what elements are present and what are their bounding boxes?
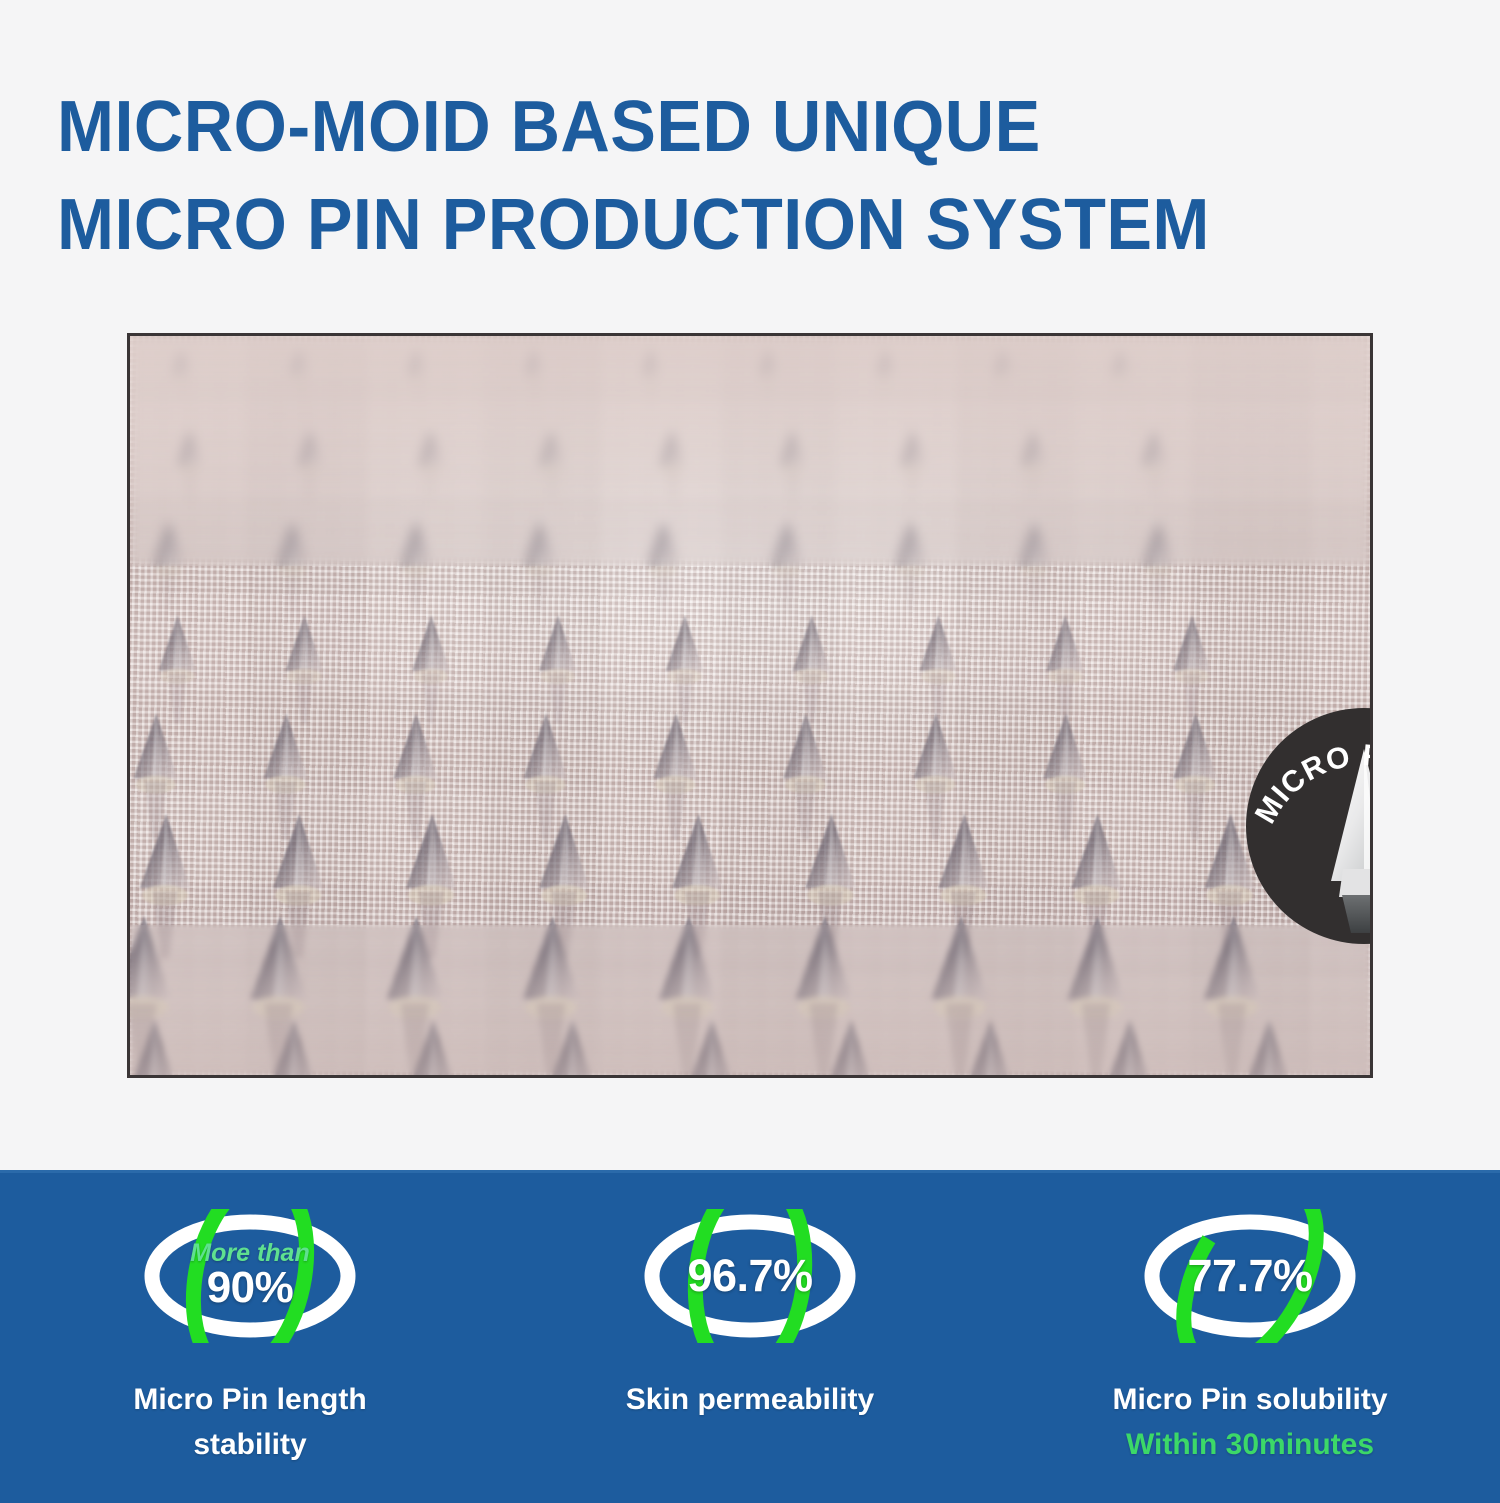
gauge-1-ring <box>136 1209 364 1343</box>
stats-band: More than 90% Micro Pin length stability… <box>0 1170 1500 1503</box>
gauge-1: More than 90% <box>136 1209 364 1343</box>
gauge-2-ring <box>636 1209 864 1343</box>
headline-line-1: MICRO-MOID BASED UNIQUE <box>57 78 1349 176</box>
stat-1-labels: Micro Pin length stability <box>133 1377 366 1467</box>
gauge-3-ring <box>1136 1209 1364 1343</box>
micro-pin-photo: MICRO PIN 200EA <box>127 333 1373 1078</box>
stat-1-label-line-2: stability <box>133 1422 366 1467</box>
photo-depth-blur-bottom <box>130 925 1370 1075</box>
gauge-2-track <box>652 1222 848 1330</box>
stat-2-label-line-1: Skin permeability <box>626 1377 874 1422</box>
gauge-3: 77.7% <box>1136 1209 1364 1343</box>
headline-line-2: MICRO PIN PRODUCTION SYSTEM <box>57 176 1349 274</box>
stat-3-labels: Micro Pin solubility Within 30minutes <box>1112 1377 1387 1467</box>
gauge-1-track <box>152 1222 348 1330</box>
photo-depth-blur-top <box>130 336 1370 566</box>
page-title: MICRO-MOID BASED UNIQUE MICRO PIN PRODUC… <box>57 78 1417 274</box>
stats-row: More than 90% Micro Pin length stability… <box>0 1173 1500 1503</box>
stat-2-labels: Skin permeability <box>626 1377 874 1422</box>
stat-3-sublabel: Within 30minutes <box>1112 1422 1387 1467</box>
micro-pin-count-badge: MICRO PIN 200EA <box>1239 701 1373 951</box>
stat-3-label-line-1: Micro Pin solubility <box>1112 1377 1387 1422</box>
stat-1-label-line-1: Micro Pin length <box>133 1377 366 1422</box>
stat-micro-pin-solubility: 77.7% Micro Pin solubility Within 30minu… <box>1000 1173 1500 1503</box>
stat-micro-pin-length-stability: More than 90% Micro Pin length stability <box>0 1173 500 1503</box>
badge-pin-collar <box>1339 869 1373 897</box>
stat-skin-permeability: 96.7% Skin permeability <box>500 1173 1000 1503</box>
gauge-2: 96.7% <box>636 1209 864 1343</box>
